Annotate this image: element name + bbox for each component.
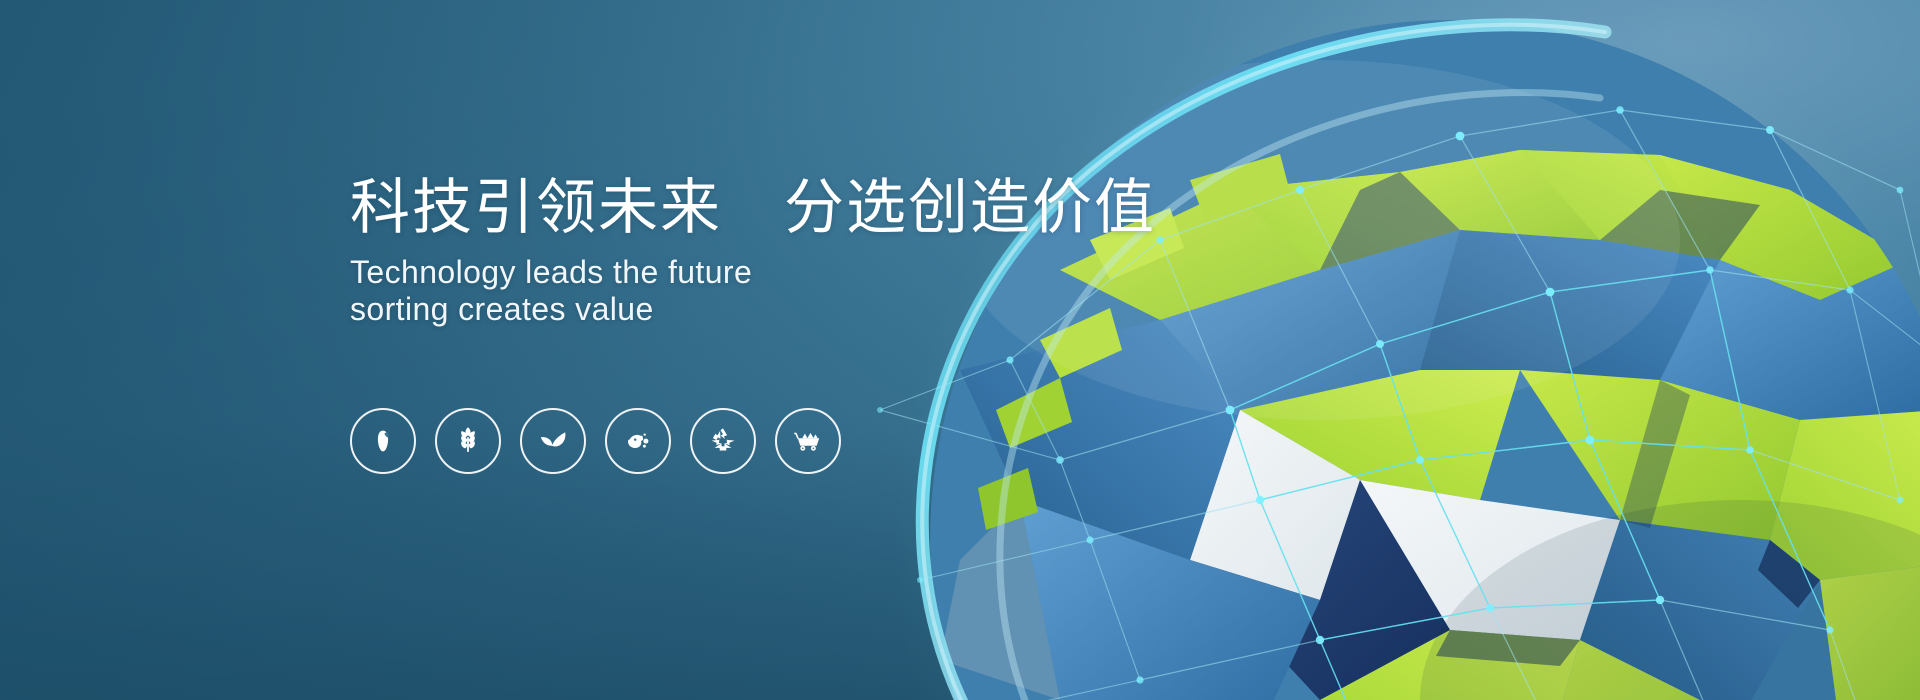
icon-chip-rice-grain[interactable]: [350, 408, 416, 474]
recycle-icon: [707, 425, 739, 457]
subtitle-line-2: sorting creates value: [350, 291, 1156, 329]
icon-chip-recycle[interactable]: [690, 408, 756, 474]
wheat-icon: [452, 425, 484, 457]
hero-copy: 科技引领未来 分选创造价值 Technology leads the futur…: [350, 176, 1156, 329]
nut-icon: [622, 425, 654, 457]
background-vignette: [0, 0, 1920, 700]
hero-banner: 科技引领未来 分选创造价值 Technology leads the futur…: [0, 0, 1920, 700]
application-icon-row: [350, 408, 841, 474]
rice-grain-icon: [368, 426, 398, 456]
leaves-icon: [536, 424, 570, 458]
icon-chip-wheat[interactable]: [435, 408, 501, 474]
icon-chip-leaves[interactable]: [520, 408, 586, 474]
hero-subtitle: Technology leads the future sorting crea…: [350, 254, 1156, 330]
ore-cart-icon: [791, 424, 825, 458]
subtitle-line-1: Technology leads the future: [350, 254, 1156, 292]
page-title: 科技引领未来 分选创造价值: [350, 176, 1156, 240]
icon-chip-ore-cart[interactable]: [775, 408, 841, 474]
icon-chip-nut[interactable]: [605, 408, 671, 474]
